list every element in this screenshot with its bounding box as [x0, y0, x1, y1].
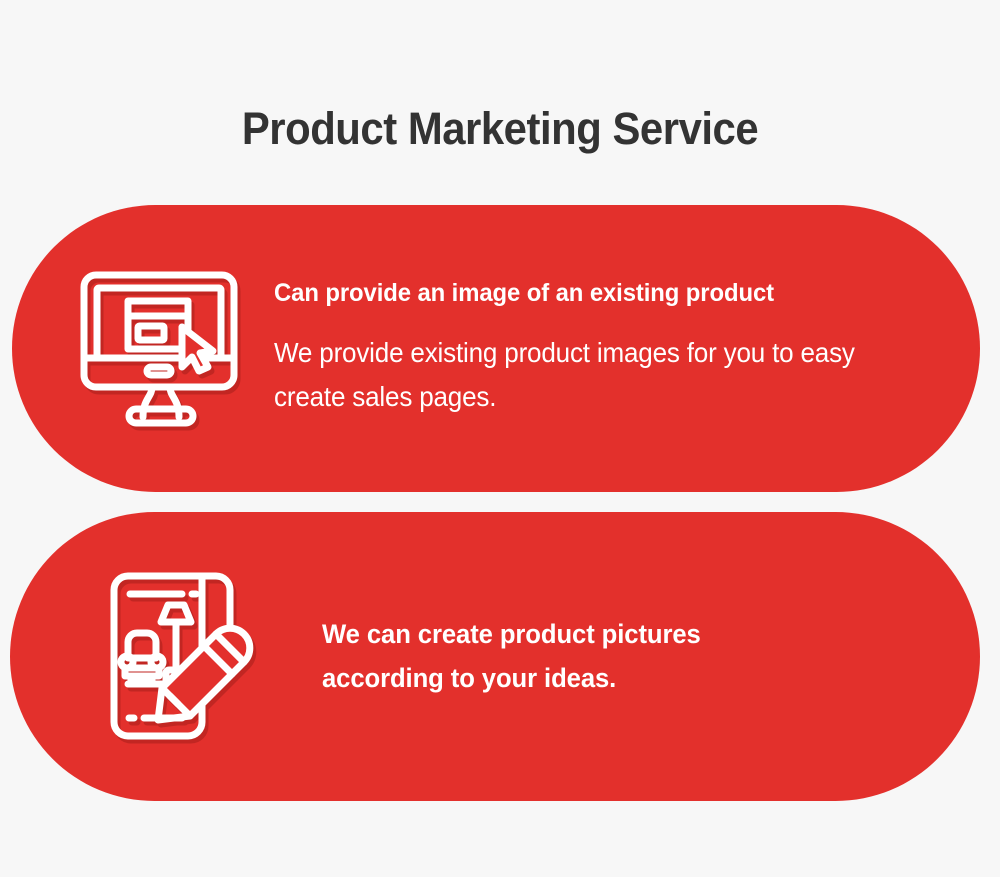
card-2-body: We can create product pictures according…	[262, 613, 980, 700]
design-sketch-pencil-icon	[98, 572, 262, 742]
page-title: Product Marketing Service	[35, 105, 965, 152]
card-1-body: Can provide an image of an existing prod…	[238, 278, 980, 420]
card-2-heading: We can create product pictures according…	[322, 613, 816, 700]
monitor-with-cursor-icon	[80, 271, 238, 427]
service-card-custom-picture[interactable]: We can create product pictures according…	[10, 512, 980, 801]
card-1-description: We provide existing product images for y…	[274, 331, 893, 419]
page-root: Product Marketing Service	[0, 0, 1000, 877]
card-1-heading: Can provide an image of an existing prod…	[274, 278, 910, 309]
service-card-existing-product[interactable]: Can provide an image of an existing prod…	[12, 205, 980, 492]
